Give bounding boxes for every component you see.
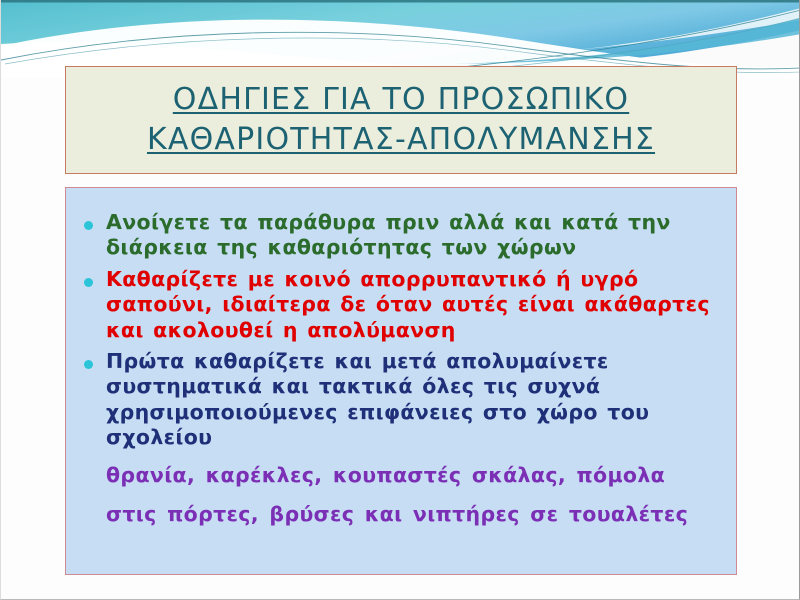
sub-line-2: στις πόρτες, βρύσες και νιπτήρες σε τουα… (106, 499, 718, 530)
bullet-dot-icon (84, 278, 93, 287)
list-item: Καθαρίζετε με κοινό απορρυπαντικό ή υγρό… (84, 267, 718, 343)
page-title-line-2: ΚΑΘΑΡΙΟΤΗΤΑΣ-ΑΠΟΛΥΜΑΝΣΗΣ (147, 120, 655, 160)
list-item: Πρώτα καθαρίζετε και μετά απολυμαίνετε σ… (84, 349, 718, 451)
list-item: Ανοίγετε τα παράθυρα πριν αλλά και κατά … (84, 210, 718, 261)
bullet-dot-icon (84, 221, 93, 230)
page-title-line-1: ΟΔΗΓΙΕΣ ΓΙΑ ΤΟ ΠΡΟΣΩΠΙΚΟ (173, 80, 629, 120)
slide-canvas: ΟΔΗΓΙΕΣ ΓΙΑ ΤΟ ΠΡΟΣΩΠΙΚΟ ΚΑΘΑΡΙΟΤΗΤΑΣ-ΑΠ… (0, 0, 800, 600)
slide-title-box: ΟΔΗΓΙΕΣ ΓΙΑ ΤΟ ΠΡΟΣΩΠΙΚΟ ΚΑΘΑΡΙΟΤΗΤΑΣ-ΑΠ… (65, 66, 737, 174)
bullet-dot-icon (84, 360, 93, 369)
slide-content-box: Ανοίγετε τα παράθυρα πριν αλλά και κατά … (65, 187, 737, 575)
sub-line-1: θρανία, καρέκλες, κουπαστές σκάλας, πόμο… (106, 460, 718, 491)
bullet-text-1: Ανοίγετε τα παράθυρα πριν αλλά και κατά … (106, 210, 718, 261)
bullet-text-3: Πρώτα καθαρίζετε και μετά απολυμαίνετε σ… (106, 349, 718, 451)
bullet-text-2: Καθαρίζετε με κοινό απορρυπαντικό ή υγρό… (106, 267, 718, 343)
